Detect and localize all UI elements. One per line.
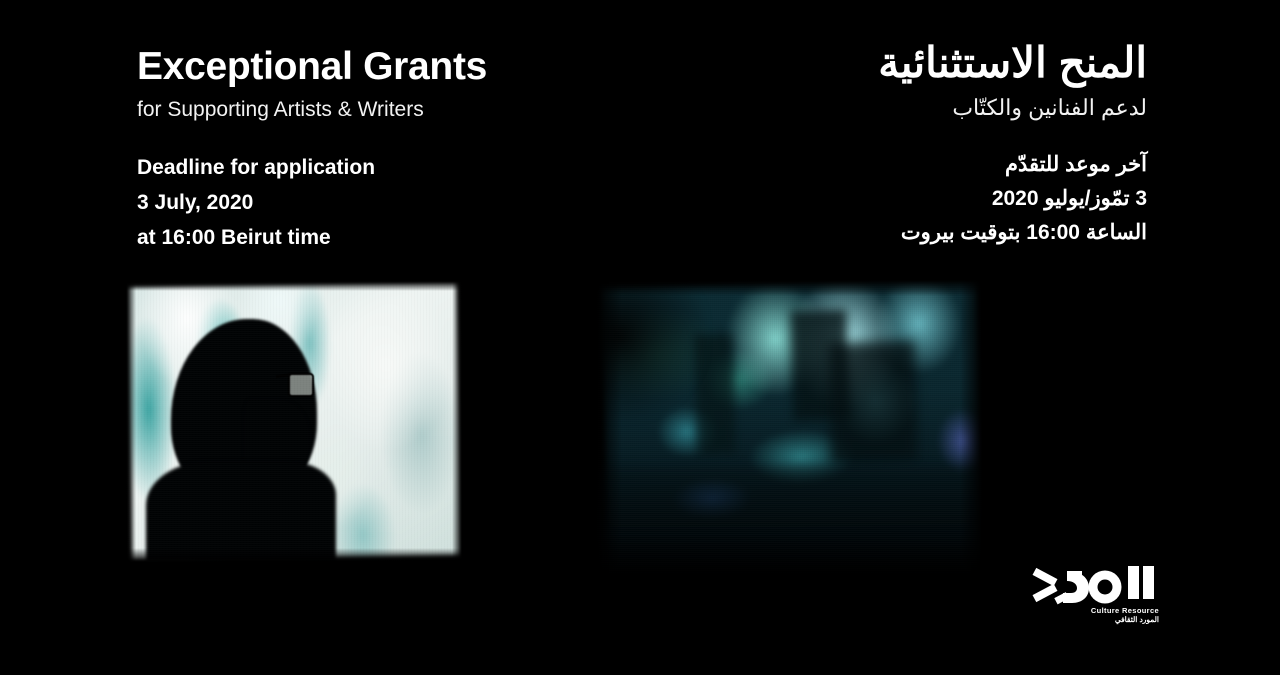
deadline-label-english: Deadline for application <box>137 150 487 185</box>
shadow-mass-left <box>596 280 706 420</box>
logo-wordmark-icon <box>1031 565 1157 607</box>
deadline-date-english: 3 July, 2020 <box>137 185 487 220</box>
logo-caption: Culture Resource المورد الثقافي <box>1091 607 1159 625</box>
logo-culture-resource[interactable]: Culture Resource المورد الثقافي <box>1031 565 1161 633</box>
glasses-lens <box>288 373 314 397</box>
english-text-block: Exceptional Grants for Supporting Artist… <box>137 46 487 255</box>
deadline-time-arabic: الساعة 16:00 بتوقيت بيروت <box>878 216 1147 250</box>
page-subtitle-arabic: لدعم الفنانين والكتّاب <box>878 94 1147 122</box>
silhouette-shoulders <box>146 461 336 562</box>
deadline-time-english: at 16:00 Beirut time <box>137 220 487 255</box>
photo-cityscape-projection <box>596 280 982 575</box>
page-subtitle-english: for Supporting Artists & Writers <box>137 97 487 122</box>
logo-caption-arabic: المورد الثقافي <box>1091 616 1159 624</box>
deadline-block-english: Deadline for application 3 July, 2020 at… <box>137 150 487 255</box>
deadline-date-arabic: 3 تمّوز/يوليو 2020 <box>878 182 1147 216</box>
arabic-text-block: المنح الاستثنائية لدعم الفنانين والكتّاب… <box>878 40 1147 250</box>
page-title-arabic: المنح الاستثنائية <box>878 40 1147 86</box>
photo-silhouette-projection <box>126 281 462 562</box>
page-title-english: Exceptional Grants <box>137 46 487 88</box>
deadline-block-arabic: آخر موعد للتقدّم 3 تمّوز/يوليو 2020 السا… <box>878 148 1147 250</box>
deadline-label-arabic: آخر موعد للتقدّم <box>878 148 1147 182</box>
foreground-shadow <box>596 466 982 575</box>
building-silhouette-right <box>828 341 917 463</box>
logo-caption-english: Culture Resource <box>1091 607 1159 615</box>
poster-canvas: Exceptional Grants for Supporting Artist… <box>0 0 1280 675</box>
